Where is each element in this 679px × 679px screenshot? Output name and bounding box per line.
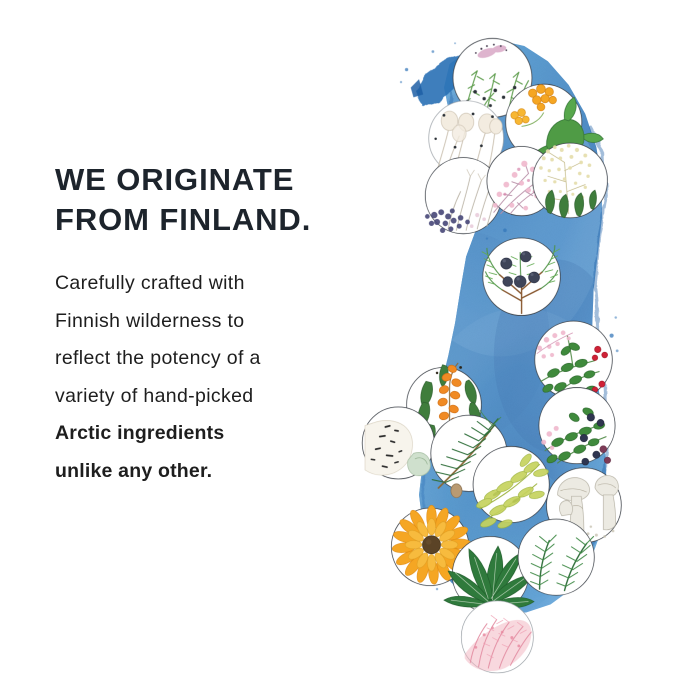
map-svg — [330, 10, 675, 675]
body-line-1: Carefully crafted with — [55, 272, 245, 294]
meadowsweet-circle — [533, 143, 608, 218]
chaga-lump — [408, 452, 431, 475]
body-line-5-bold: Arctic ingredients — [55, 422, 224, 444]
body-line-3: reflect the potency of a — [55, 347, 261, 369]
spruce-sprigs-circle — [518, 519, 594, 595]
juniper-berries-circle — [482, 238, 560, 316]
body-line-4: variety of hand-picked — [55, 385, 253, 407]
body-line-6-bold: unlike any other. — [55, 460, 212, 482]
birch-bark-circle — [362, 407, 434, 479]
watercolor-map-artwork — [330, 10, 675, 675]
copy-block: WE ORIGINATE FROM FINLAND. Carefully cra… — [55, 160, 365, 490]
pink-algae-circle — [461, 601, 533, 673]
body-line-2: Finnish wilderness to — [55, 310, 244, 332]
body-paragraph: Carefully crafted with Finnish wildernes… — [55, 265, 365, 490]
banner-root: WE ORIGINATE FROM FINLAND. Carefully cra… — [0, 0, 679, 679]
page-title: WE ORIGINATE FROM FINLAND. — [55, 160, 365, 239]
